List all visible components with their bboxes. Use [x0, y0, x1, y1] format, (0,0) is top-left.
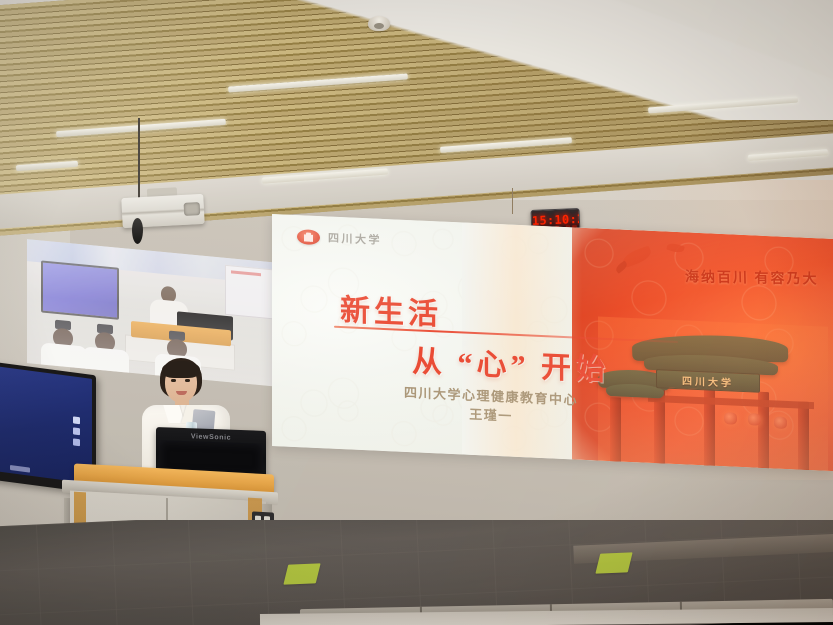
ceiling-wire	[512, 188, 513, 214]
smoke-detector-icon	[368, 16, 390, 31]
main-projection-screen: 四川大学 海纳百川 有容乃大 四川大学 新生活 从 “心” 开始 四川大学心理健…	[272, 214, 833, 471]
presenter-eye	[185, 379, 190, 382]
floor-marker-tape	[283, 563, 320, 584]
projector-lens-icon	[184, 202, 201, 216]
lecture-hall-photo: 15:10:22 年 月 日 星期	[0, 0, 833, 625]
presenter-eye	[171, 379, 176, 382]
floor-marker-tape	[595, 552, 632, 573]
slide-motto-calligraphy: 海纳百川 有容乃大	[684, 266, 818, 288]
wall-display-buttons-icon	[73, 416, 80, 424]
slide-title-line-2: 从 “心” 开始	[412, 336, 609, 389]
university-wordmark: 四川大学	[328, 229, 382, 247]
university-emblem-icon	[297, 229, 320, 245]
presenter-fringe	[162, 361, 200, 378]
